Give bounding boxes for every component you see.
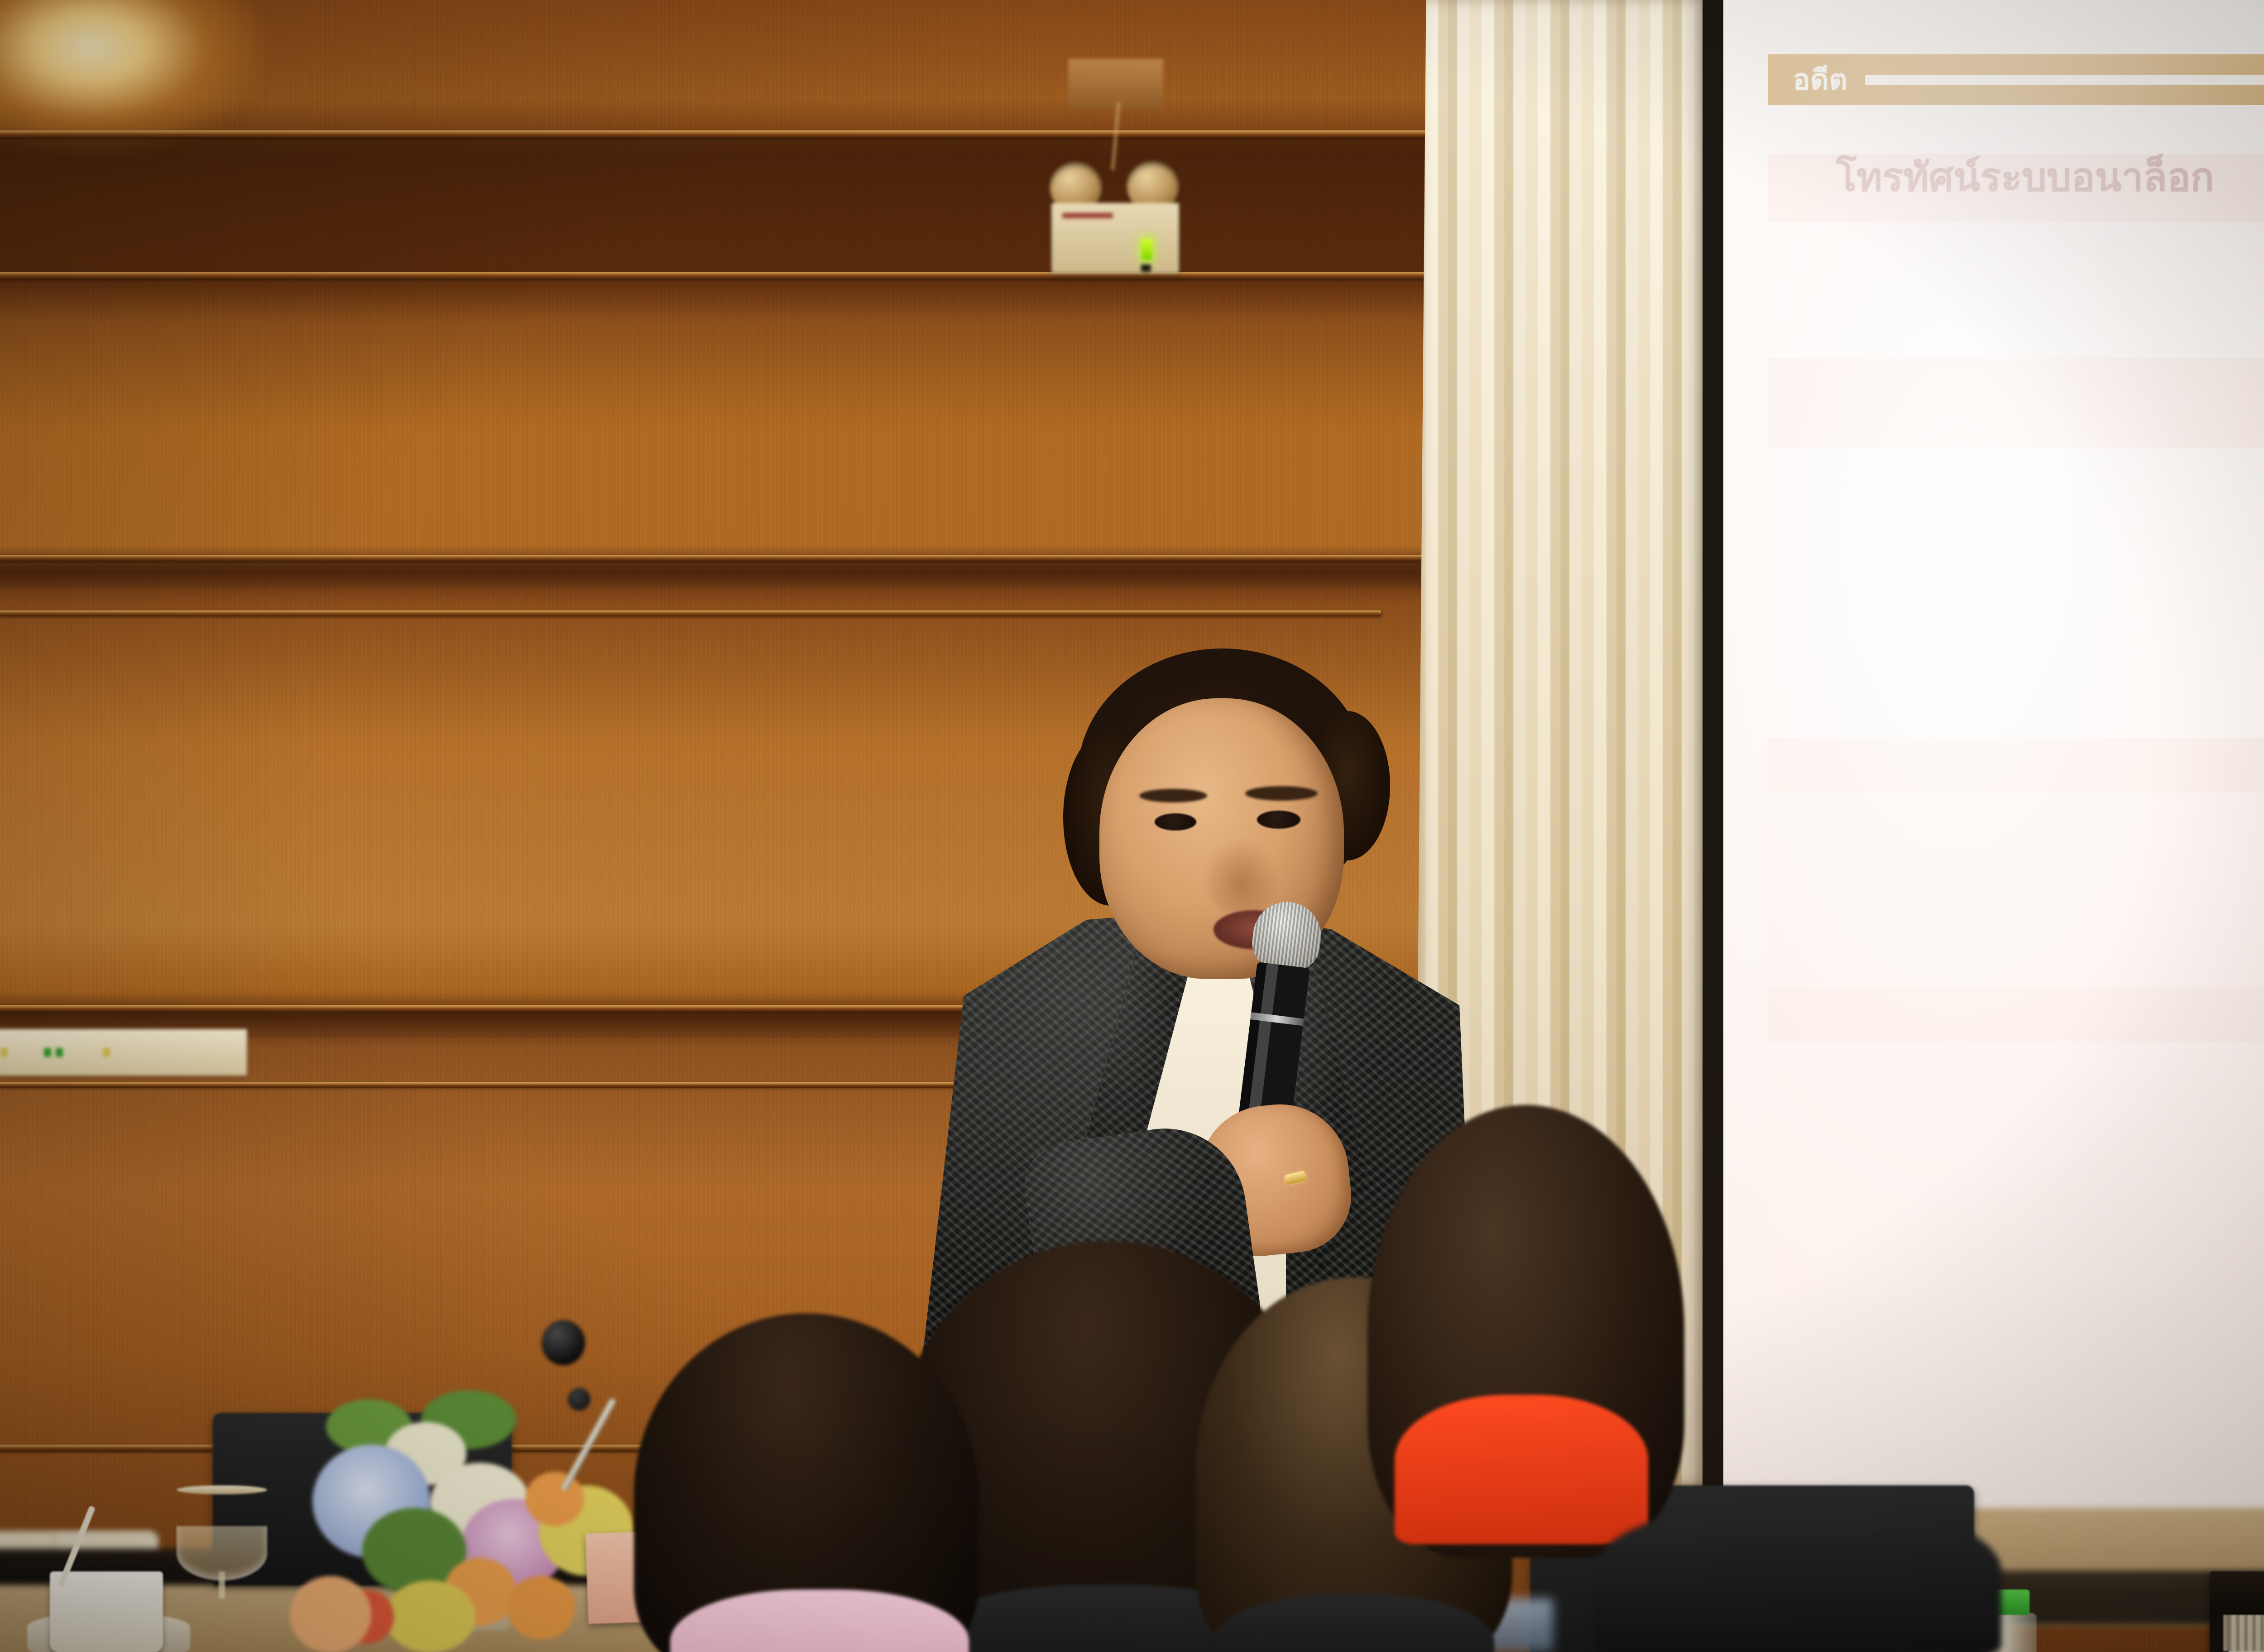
wall-seam-4	[0, 610, 1381, 616]
slide-header-title: อดีต	[1768, 58, 1848, 102]
coffee-cup	[50, 1571, 163, 1652]
slide-row-5	[1768, 792, 2264, 987]
slide-header-banner: อดีต	[1768, 54, 2264, 105]
photo-scene: อดีต โทรทัศน์ระบบอนาล็อก	[0, 0, 2264, 1652]
slide-body-table: โทรทัศน์ระบบอนาล็อก	[1768, 154, 2264, 1549]
slide-header-rule	[1865, 75, 2264, 85]
emergency-light-backbox	[1068, 59, 1163, 110]
projected-slide: อดีต โทรทัศน์ระบบอนาล็อก	[1723, 0, 2264, 1549]
slide-row-6	[1768, 987, 2264, 1042]
outlet-indicator-yellow-b	[103, 1048, 110, 1057]
outlet-indicator-yellow-a	[0, 1048, 8, 1057]
audience-top-far-right	[1594, 1503, 2001, 1652]
slide-row-3	[1768, 448, 2264, 738]
thermos-grip-ribs	[2223, 1615, 2264, 1651]
emergency-light-fixture	[1050, 59, 1182, 281]
speaker-brow-right	[1245, 786, 1318, 801]
wine-glass-foot	[177, 1485, 267, 1494]
emergency-light-led	[1142, 239, 1152, 260]
emergency-light-cable	[1110, 102, 1121, 170]
flower-yellow-filler-b	[385, 1580, 475, 1652]
outlet-plate-upper[interactable]	[0, 1029, 247, 1076]
speaker-eye-left	[1155, 813, 1196, 831]
outlet-indicator-green-b	[56, 1048, 63, 1057]
audience-member-far-right	[1594, 1476, 2001, 1652]
projection-screen-frame: อดีต โทรทัศน์ระบบอนาล็อก	[1703, 0, 2264, 1549]
slide-row-1	[1768, 222, 2264, 358]
desk-microphone-joint	[568, 1388, 590, 1411]
slide-row-7	[1768, 1042, 2264, 1295]
outlet-indicator-green-a	[44, 1048, 51, 1057]
wine-glass	[177, 1485, 267, 1599]
slide-row-4	[1768, 738, 2264, 792]
thermos-lid	[2210, 1571, 2264, 1615]
thermos-tumbler	[2210, 1571, 2264, 1652]
desk-microphone-head	[542, 1320, 585, 1365]
emergency-light-test-button[interactable]	[1141, 264, 1151, 272]
emergency-light-panel	[1051, 203, 1179, 274]
speaker-eye-right	[1257, 811, 1300, 829]
audience-member-front-left	[634, 1313, 978, 1652]
projection-screen-surface: อดีต โทรทัศน์ระบบอนาล็อก	[1723, 0, 2264, 1549]
speaker-brow-left	[1139, 789, 1207, 802]
flower-peach-cluster	[290, 1576, 371, 1652]
flower-orange-c	[507, 1576, 575, 1639]
wall-seam-6	[0, 1082, 996, 1088]
slide-row-2	[1768, 358, 2264, 448]
desk-microphone-arm	[560, 1397, 617, 1492]
slide-row-0: โทรทัศน์ระบบอนาล็อก	[1768, 154, 2264, 222]
wine-glass-bowl	[177, 1526, 267, 1580]
emergency-light-brand-label	[1062, 213, 1113, 218]
slide-row-0-text: โทรทัศน์ระบบอนาล็อก	[1768, 154, 2264, 202]
